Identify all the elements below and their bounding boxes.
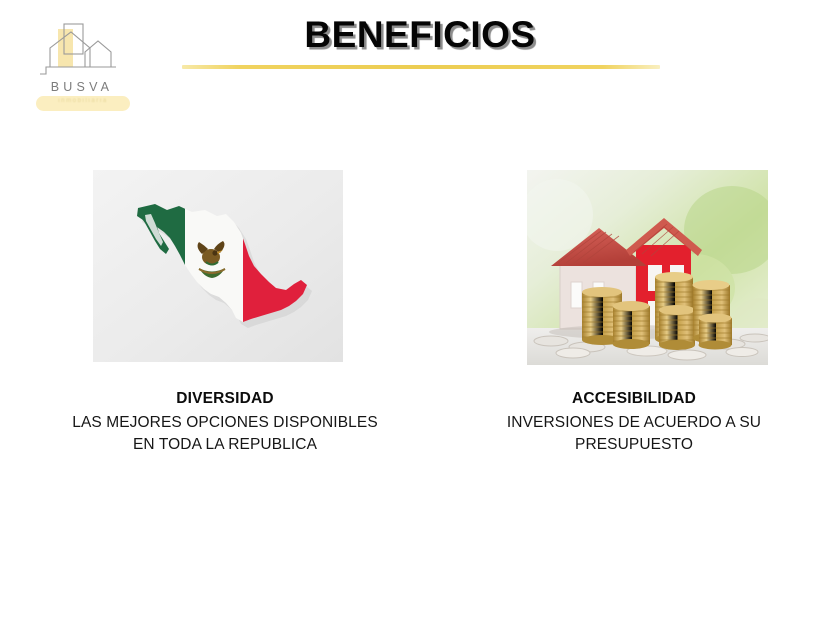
benefit-heading: ACCESIBILIDAD [458,388,810,410]
benefit-card-accesibilidad [527,170,768,365]
benefit-caption-diversidad: DIVERSIDAD LAS MEJORES OPCIONES DISPONIB… [10,388,440,456]
benefit-body-line-2: EN TODA LA REPUBLICA [10,434,440,456]
house-model-coin-stacks-photo [527,170,768,365]
benefit-card-diversidad [93,170,343,362]
benefit-body-line-1: INVERSIONES DE ACUERDO A SU [458,412,810,434]
logo-tagline: inmobiliaria [36,98,130,104]
benefit-body-line-2: PRESUPUESTO [458,434,810,456]
mexico-map-flag-photo [93,170,343,362]
title-underline-divider [182,65,660,69]
benefit-caption-accesibilidad: ACCESIBILIDAD INVERSIONES DE ACUERDO A S… [458,388,810,456]
logo-wordmark: BUSVA [28,80,136,94]
page-title: BENEFICIOS [0,14,840,56]
benefit-body-line-1: LAS MEJORES OPCIONES DISPONIBLES [10,412,440,434]
benefit-heading: DIVERSIDAD [10,388,440,410]
